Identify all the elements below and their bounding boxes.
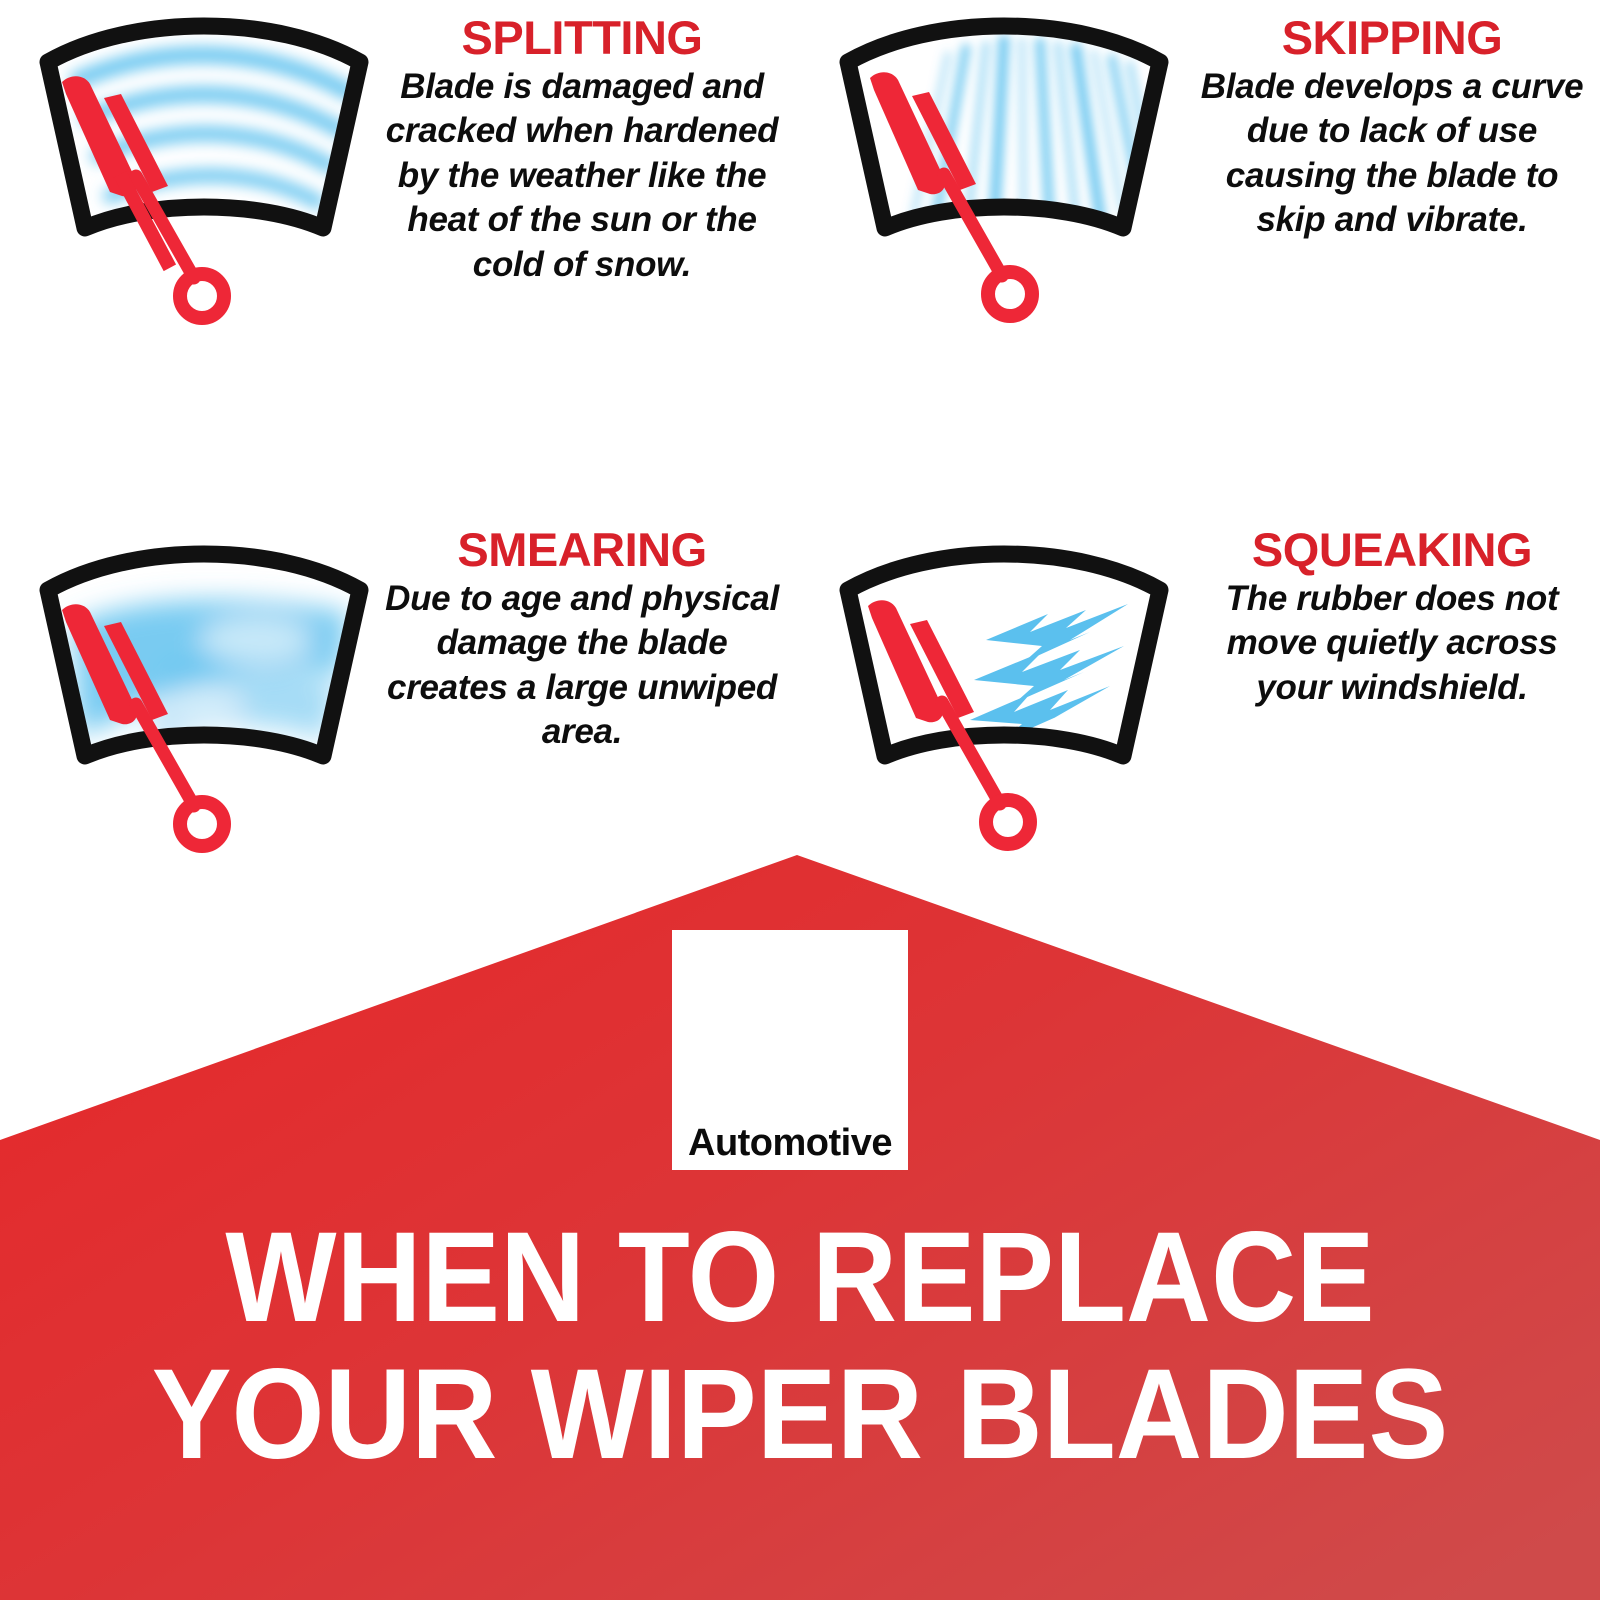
symptom-description: Due to age and physical damage the blade… <box>382 577 782 755</box>
symptom-title: SPLITTING <box>382 14 782 61</box>
red-chevron-banner: HQ Automotive WHEN TO REPLACE YOUR WIPER… <box>0 820 1600 1600</box>
logo-mark-text: HQ <box>720 983 860 1079</box>
logo-wordmark: Automotive <box>672 1116 908 1170</box>
symptom-description: Blade is damaged and cracked when harden… <box>382 65 782 287</box>
symptom-description: Blade develops a curve due to lack of us… <box>1196 65 1588 243</box>
symptom-text-squeaking: SQUEAKING The rubber does not move quiet… <box>1196 526 1588 710</box>
wiper-squeaking-icon <box>818 528 1190 858</box>
logo-mark-panel: HQ <box>682 940 898 1116</box>
wiper-splitting-icon <box>18 0 390 330</box>
banner-headline: WHEN TO REPLACE YOUR WIPER BLADES <box>0 1210 1600 1484</box>
wiper-skipping-icon <box>818 0 1190 330</box>
symptom-text-smearing: SMEARING Due to age and physical damage … <box>382 526 782 755</box>
hq-automotive-logo: HQ Automotive <box>672 930 908 1170</box>
symptom-description: The rubber does not move quietly across … <box>1196 577 1588 710</box>
symptom-title: SQUEAKING <box>1196 526 1588 573</box>
symptom-card-splitting: SPLITTING Blade is damaged and cracked w… <box>0 0 800 430</box>
symptom-title: SKIPPING <box>1196 14 1588 61</box>
symptom-card-skipping: SKIPPING Blade develops a curve due to l… <box>800 0 1600 430</box>
infographic-page: SPLITTING Blade is damaged and cracked w… <box>0 0 1600 1600</box>
headline-line-1: WHEN TO REPLACE <box>64 1210 1536 1347</box>
symptom-grid: SPLITTING Blade is damaged and cracked w… <box>0 0 1600 860</box>
wiper-smearing-icon <box>18 528 390 858</box>
headline-line-2: YOUR WIPER BLADES <box>52 1347 1548 1484</box>
symptom-text-splitting: SPLITTING Blade is damaged and cracked w… <box>382 14 782 287</box>
symptom-text-skipping: SKIPPING Blade develops a curve due to l… <box>1196 14 1588 243</box>
symptom-title: SMEARING <box>382 526 782 573</box>
